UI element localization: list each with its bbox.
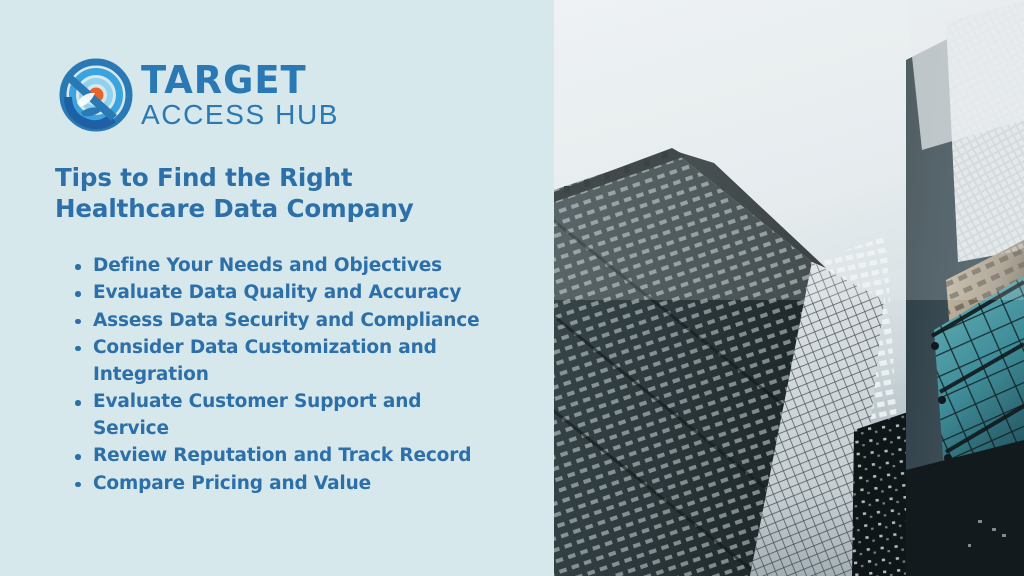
list-item: Evaluate Customer Support and Service	[72, 389, 502, 443]
list-item: Define Your Needs and Objectives	[72, 253, 502, 280]
slide-canvas: TARGET ACCESS HUB Tips to Find the Right…	[0, 0, 1024, 576]
target-bullseye-hand-icon	[57, 56, 135, 134]
tips-list: Define Your Needs and Objectives Evaluat…	[72, 253, 502, 498]
list-item: Evaluate Data Quality and Accuracy	[72, 280, 502, 307]
page-title: Tips to Find the Right Healthcare Data C…	[55, 163, 485, 225]
list-item: Review Reputation and Track Record	[72, 443, 502, 470]
list-item: Compare Pricing and Value	[72, 471, 502, 498]
left-content-panel: TARGET ACCESS HUB Tips to Find the Right…	[0, 0, 554, 576]
brand-wordmark: TARGET ACCESS HUB	[141, 61, 339, 129]
list-item: Consider Data Customization and Integrat…	[72, 335, 502, 389]
brand-logo[interactable]: TARGET ACCESS HUB	[57, 56, 339, 134]
list-item: Assess Data Security and Compliance	[72, 308, 502, 335]
logo-word-access-hub: ACCESS HUB	[141, 101, 339, 129]
skyscraper-photo	[554, 0, 1024, 576]
logo-word-target: TARGET	[141, 61, 333, 99]
